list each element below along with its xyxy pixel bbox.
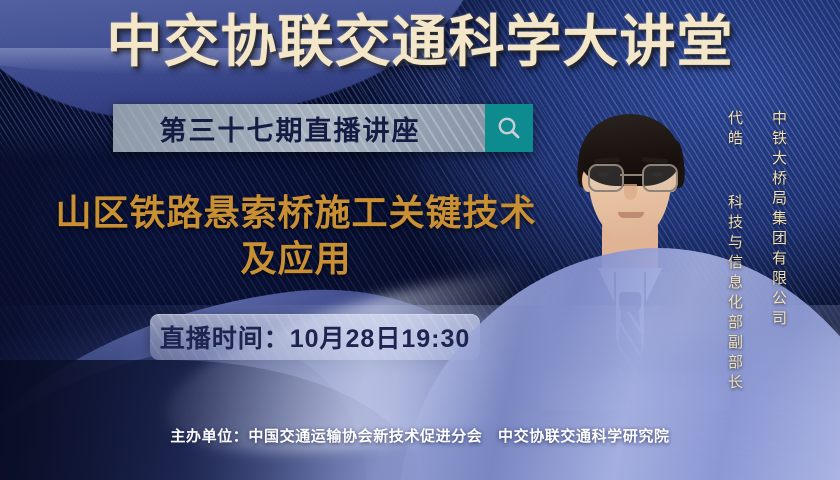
portrait-mouth (618, 212, 644, 218)
speaker-organization: 中铁大桥局集团有限公司 (768, 110, 789, 330)
lecture-topic-title: 山区铁路悬索桥施工关键技术 及应用 (36, 190, 556, 282)
search-icon (496, 115, 522, 141)
episode-banner-body: 第三十七期直播讲座 (113, 104, 485, 152)
broadcast-time-badge: 直播时间：10月28日19:30 (150, 314, 480, 360)
live-lecture-poster: 中交协联交通科学大讲堂 第三十七期直播讲座 山区铁路悬索桥施工关键技术 及应用 … (0, 0, 840, 480)
broadcast-time-label: 直播时间：10月28日19:30 (160, 319, 471, 355)
portrait-glasses-bridge (620, 174, 642, 176)
portrait-nose (624, 184, 637, 200)
search-icon-box[interactable] (485, 104, 533, 152)
speaker-name-and-role: 代皓 科技与信息化部副部长 (724, 110, 745, 394)
episode-banner: 第三十七期直播讲座 (113, 104, 533, 152)
portrait-glasses-right-lens (642, 164, 678, 192)
portrait-glasses-left-lens (588, 164, 624, 192)
episode-banner-label: 第三十七期直播讲座 (160, 109, 439, 148)
main-title: 中交协联交通科学大讲堂 (0, 12, 840, 72)
lecture-topic-line-1: 山区铁路悬索桥施工关键技术 (55, 192, 536, 233)
organizer-footer: 主办单位：中国交通运输协会新技术促进分会 中交协联交通科学研究院 (0, 425, 840, 446)
